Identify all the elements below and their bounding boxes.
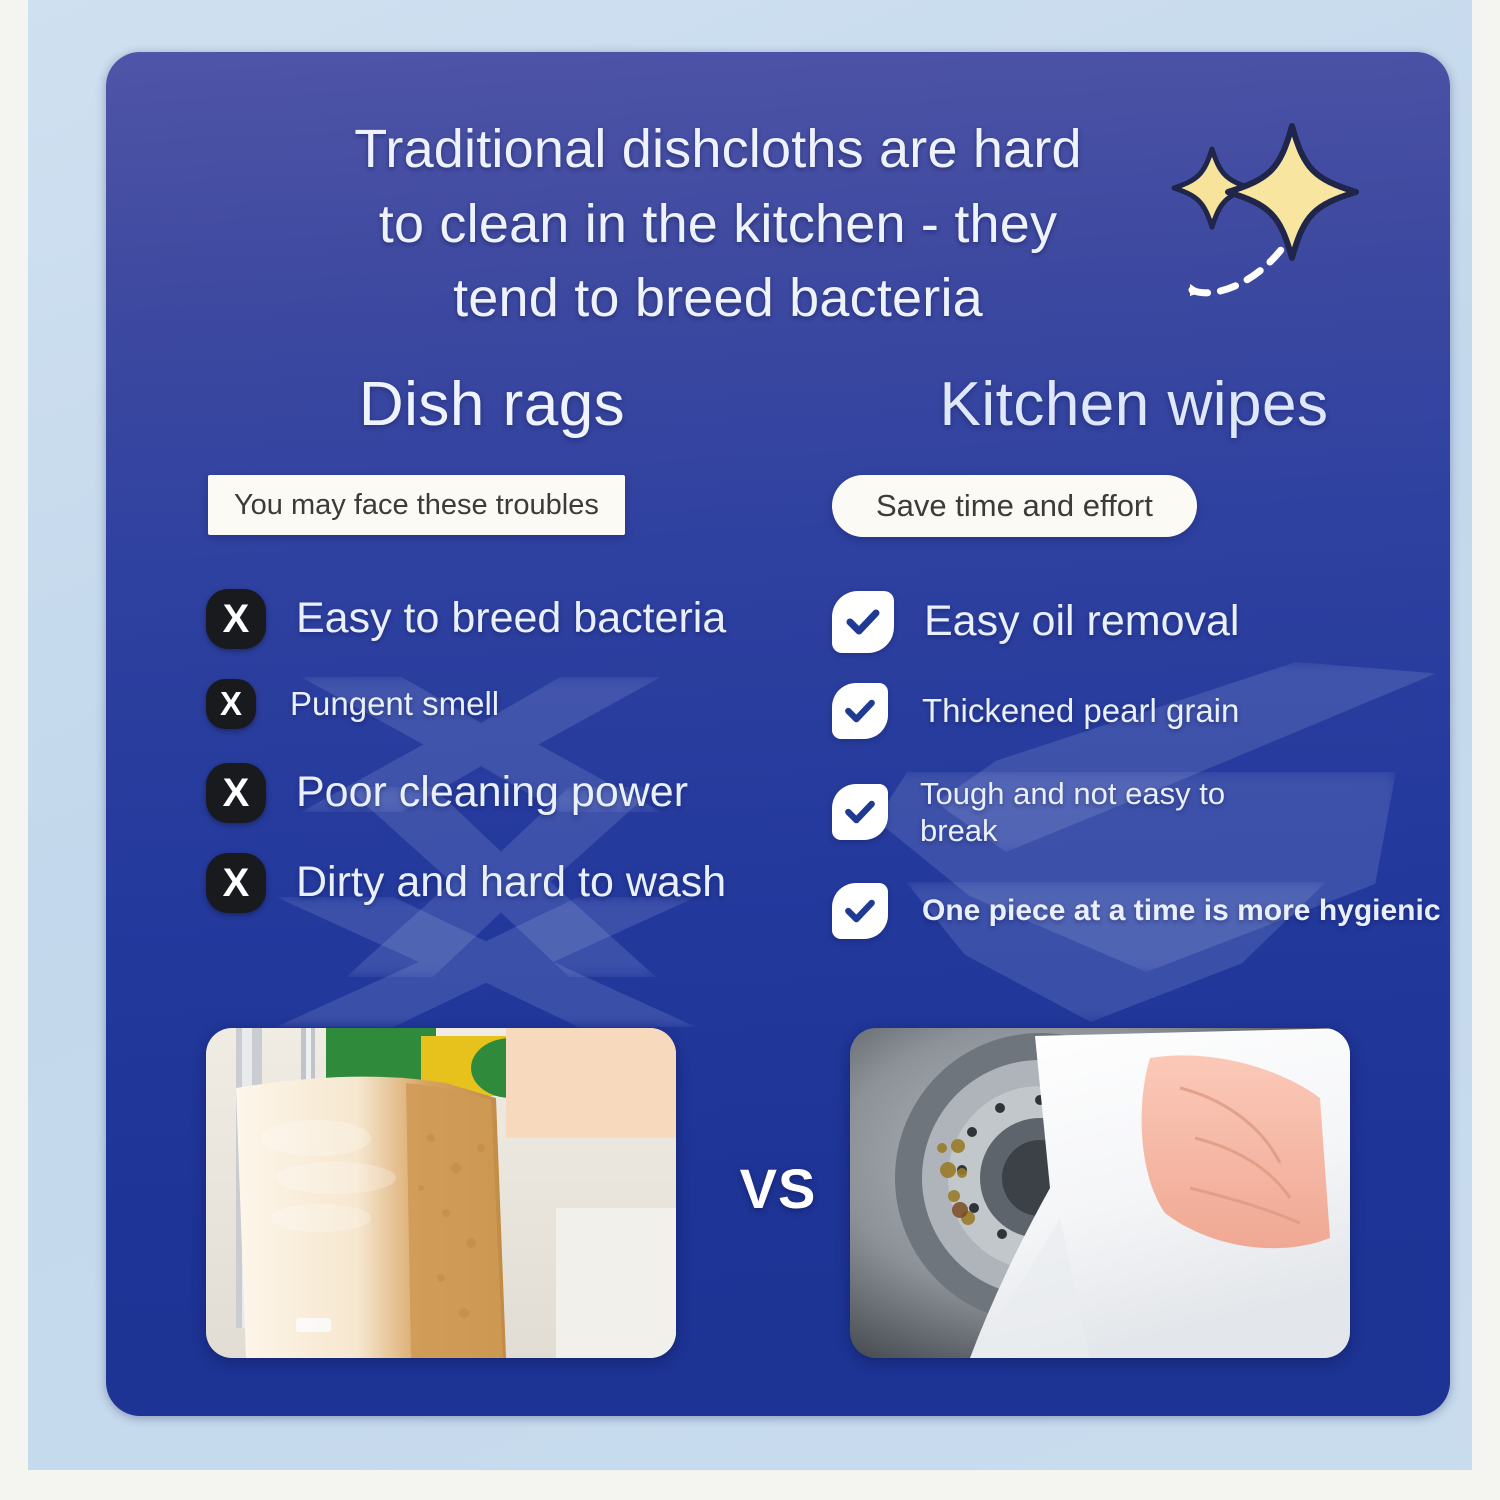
x-mark-icon: X xyxy=(206,763,266,823)
badge-dish-rags: You may face these troubles xyxy=(208,475,625,535)
list-item: One piece at a time is more hygienic xyxy=(832,883,1450,939)
list-item-label: Tough and not easy to break xyxy=(920,775,1250,849)
column-title-kitchen-wipes: Kitchen wipes xyxy=(818,372,1450,437)
headline-line-2: to clean in the kitchen - they xyxy=(286,187,1150,262)
promo-card: Traditional dishcloths are hard to clean… xyxy=(106,52,1450,1416)
list-item: X Easy to breed bacteria xyxy=(206,589,778,649)
list-item: Thickened pearl grain xyxy=(832,683,1450,739)
x-mark-icon: X xyxy=(206,589,266,649)
x-mark-icon: X xyxy=(206,853,266,913)
headline: Traditional dishcloths are hard to clean… xyxy=(106,112,1450,336)
check-mark-icon xyxy=(832,784,888,840)
column-kitchen-wipes: Kitchen wipes Save time and effort xyxy=(778,372,1450,967)
list-item-label: Thickened pearl grain xyxy=(922,691,1239,731)
list-item-label: Poor cleaning power xyxy=(296,767,688,819)
check-mark-icon xyxy=(832,683,888,739)
list-item-label: Dirty and hard to wash xyxy=(296,857,726,909)
list-item: X Poor cleaning power xyxy=(206,763,778,823)
outer-frame: Traditional dishcloths are hard to clean… xyxy=(28,0,1472,1470)
list-kitchen-wipes: Easy oil removal Thickened pearl grain xyxy=(818,591,1450,939)
list-item: X Dirty and hard to wash xyxy=(206,853,778,913)
check-mark-icon xyxy=(832,591,894,653)
check-mark-icon xyxy=(832,883,888,939)
badge-kitchen-wipes: Save time and effort xyxy=(832,475,1197,537)
column-dish-rags: Dish rags You may face these troubles X … xyxy=(106,372,778,967)
photo-wiping-stove xyxy=(850,1028,1350,1358)
comparison-columns: Dish rags You may face these troubles X … xyxy=(106,372,1450,967)
list-item-label: Easy to breed bacteria xyxy=(296,593,726,645)
headline-line-1: Traditional dishcloths are hard xyxy=(286,112,1150,187)
photo-dirty-dishcloth xyxy=(206,1028,676,1358)
list-item-label: One piece at a time is more hygienic xyxy=(922,893,1441,929)
headline-line-3: tend to breed bacteria xyxy=(286,261,1150,336)
column-title-dish-rags: Dish rags xyxy=(206,372,778,437)
list-item: Tough and not easy to break xyxy=(832,775,1450,849)
list-item-label: Pungent smell xyxy=(290,684,499,724)
list-dish-rags: X Easy to breed bacteria X Pungent smell… xyxy=(206,589,778,913)
list-item: X Pungent smell xyxy=(206,679,778,729)
x-mark-icon: X xyxy=(206,679,256,729)
list-item-label: Easy oil removal xyxy=(924,596,1239,648)
list-item: Easy oil removal xyxy=(832,591,1450,653)
photo-comparison: VS xyxy=(106,1028,1450,1358)
vs-label: VS xyxy=(740,1156,817,1221)
